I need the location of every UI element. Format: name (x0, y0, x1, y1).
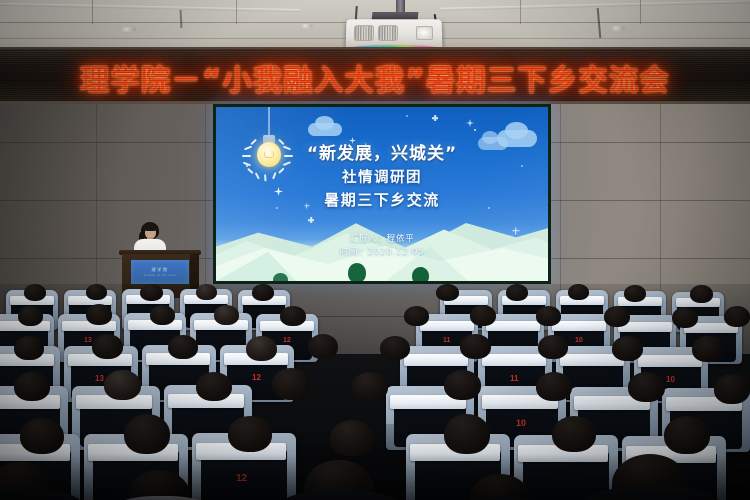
seat-number: 11 (443, 337, 450, 344)
slide-presenter-label: 汇报人：程依平 (216, 233, 548, 246)
led-banner-text: 理学院－“小我融入大我”暑期三下乡交流会 (0, 49, 750, 104)
seat-number: 12 (283, 337, 291, 344)
tree-icon (348, 263, 366, 281)
seat-tablet (404, 354, 468, 366)
slide-content: “新发展，兴城关” 社情调研团 暑期三下乡交流 汇报人：程依平 时间：2020.… (216, 107, 548, 281)
slide-title-line2: 社情调研团 (216, 168, 548, 188)
slide-title-line1: “新发展，兴城关” (216, 143, 548, 166)
ceiling-vent-icon (610, 26, 625, 31)
slide-meta-block: 汇报人：程依平 时间：2020.12.05 (216, 233, 548, 259)
seat-number: 10 (575, 337, 583, 344)
slide-title-line3: 暑期三下乡交流 (216, 190, 548, 211)
podium-panel-subtext: School of Science (131, 274, 189, 277)
projector-lens-icon (416, 26, 433, 40)
lecture-hall-photo: 理学院－“小我融入大我”暑期三下乡交流会 (0, 0, 750, 500)
tree-icon (273, 273, 288, 281)
slide-date-label: 时间：2020.12.05 (216, 246, 548, 259)
podium-panel-text: 理学院 (131, 267, 189, 273)
podium-panel: 理学院 School of Science (131, 260, 189, 284)
seat-number: 10 (516, 418, 526, 428)
seat-tablet (420, 321, 474, 331)
seat-tablet (482, 354, 546, 366)
seat-number: 10 (666, 375, 675, 384)
seat-number: 13 (84, 337, 92, 344)
seat-number: 13 (95, 374, 104, 383)
seat-tablet (638, 355, 702, 367)
tree-icon (412, 267, 429, 281)
seat-number: 11 (510, 374, 518, 383)
projection-screen: “新发展，兴城关” 社情调研团 暑期三下乡交流 汇报人：程依平 时间：2020.… (213, 104, 551, 284)
seat-tablet (486, 321, 540, 331)
seat-number: 12 (252, 373, 261, 382)
led-banner: 理学院－“小我融入大我”暑期三下乡交流会 (0, 47, 750, 104)
seat-tablet (552, 321, 606, 331)
ceiling-vent-icon (300, 24, 313, 28)
slide-title-block: “新发展，兴城关” 社情调研团 暑期三下乡交流 (216, 143, 548, 211)
foreground-shadow (0, 454, 750, 500)
ceiling-vent-icon (120, 27, 136, 32)
